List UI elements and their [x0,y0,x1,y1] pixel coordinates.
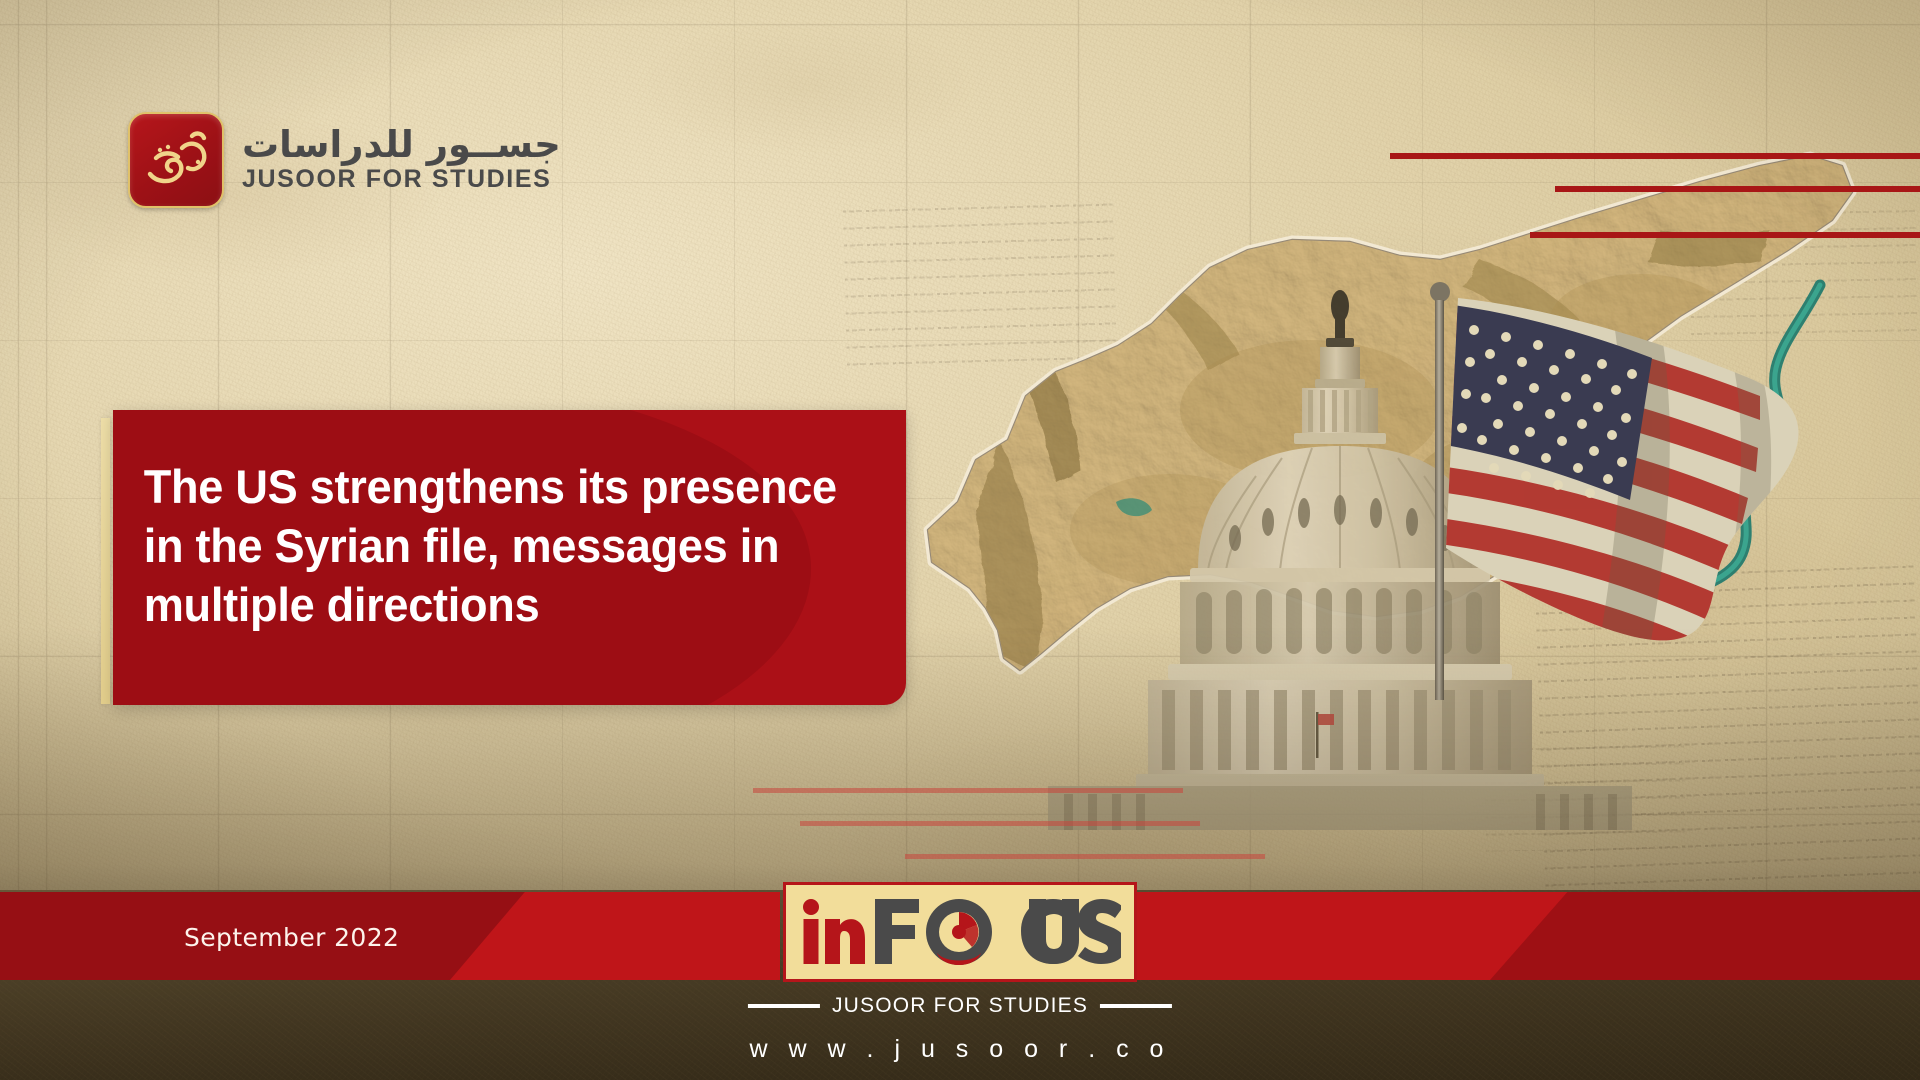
headline-panel: The US strengthens its presence in the S… [113,410,906,705]
headline-accent-rail [101,418,110,704]
headline-line-2: in the Syrian file, messages in [144,516,848,575]
website-url[interactable]: w w w . j u s o o r . c o [750,1035,1171,1064]
infocus-tagline: JUSOOR FOR STUDIES [748,994,1172,1018]
accent-line-top-3 [1530,232,1920,238]
brand-logo[interactable]: جســور للدراسات JUSOOR FOR STUDIES [128,112,561,208]
brand-name-arabic: جســور للدراسات [242,126,561,165]
jusoor-logo-mark [128,112,224,208]
footer-bar-right [1120,892,1920,980]
accent-line-bottom-1 [753,788,1183,793]
poster-canvas: جســور للدراسات JUSOOR FOR STUDIES The U… [0,0,1920,1080]
accent-line-top-2 [1555,186,1920,192]
accent-line-bottom-2 [800,821,1200,826]
infocus-logo[interactable] [783,882,1137,982]
accent-line-top-1 [1390,153,1920,159]
brand-name-english: JUSOOR FOR STUDIES [242,166,561,194]
page-title: The US strengthens its presence in the S… [113,410,874,635]
publication-date: September 2022 [184,923,399,952]
headline-line-3: multiple directions [144,575,848,634]
headline-line-1: The US strengthens its presence [144,457,848,516]
tagline-rule-right [1100,1004,1172,1008]
tagline-rule-left [748,1004,820,1008]
accent-line-bottom-3 [905,854,1265,859]
brand-logo-text: جســور للدراسات JUSOOR FOR STUDIES [242,126,561,193]
tagline-text: JUSOOR FOR STUDIES [832,994,1088,1018]
